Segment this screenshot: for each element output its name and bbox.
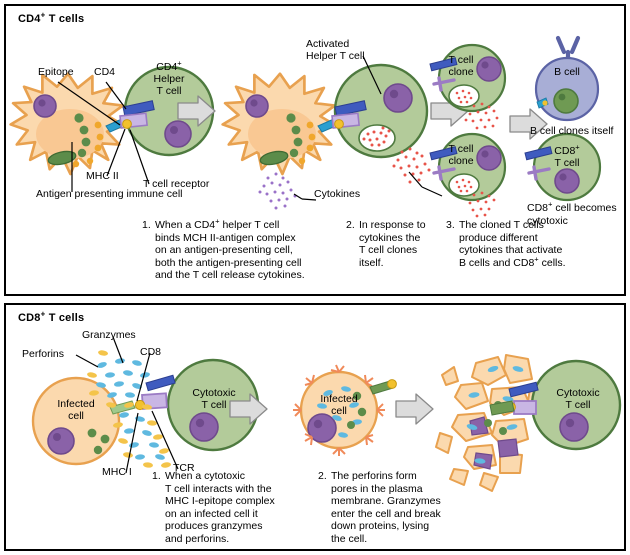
caption-cd4-1-line4: both the antigen-presenting cell bbox=[142, 257, 342, 270]
caption-cd8-2-line6: the cell. bbox=[318, 533, 508, 546]
b-cell-label: B cell bbox=[537, 66, 597, 78]
label-b-cell-clones: B cell clones itself bbox=[530, 125, 613, 137]
antigen-presenting-cell-2 bbox=[223, 74, 336, 174]
b-cell-epitope bbox=[542, 100, 547, 105]
caption-cd8-1-line2: T cell interacts with the bbox=[152, 483, 322, 496]
caption-cd8-2: 2. The perforins form pores in the plasm… bbox=[318, 470, 508, 546]
label-cd4: CD4 bbox=[94, 66, 115, 78]
infected-cell-2-label-line1: Infected bbox=[304, 393, 374, 405]
cytotoxic-t-cell-2-label-line2: T cell bbox=[538, 399, 618, 411]
caption-cd4-3-number: 3. bbox=[446, 219, 455, 232]
caption-cd8-1-line4: on an infected cell it bbox=[152, 508, 322, 521]
helper-t-cell-label-line2: Helper bbox=[124, 73, 214, 85]
infected-cell-2-nucleolus bbox=[314, 420, 322, 428]
epitope-antigen bbox=[123, 120, 132, 129]
b-cell-nucleolus bbox=[559, 94, 566, 101]
caption-cd8-2-line2: pores in the plasma bbox=[318, 483, 508, 496]
cd8-t-cell-label-line2: T cell bbox=[537, 157, 597, 169]
caption-cd8-2-line4: enter the cell and break bbox=[318, 508, 508, 521]
label-granzymes: Granzymes bbox=[82, 329, 136, 341]
cytotoxic-t-cell-1-nucleolus bbox=[196, 419, 204, 427]
helper-t-cell-nucleolus bbox=[170, 126, 178, 134]
caption-cd4-1-line3: on an antigen-presenting cell, bbox=[142, 244, 342, 257]
apc2-nucleus bbox=[246, 95, 268, 117]
label-epitope: Epitope bbox=[38, 66, 74, 78]
b-cell bbox=[536, 38, 598, 120]
caption-cd8-1-line5: produces granzymes bbox=[152, 520, 322, 533]
caption-cd8-1-number: 1. bbox=[152, 470, 161, 483]
caption-cd8-2-line3: membrane. Granzymes bbox=[318, 495, 508, 508]
panel-cd8-illustration: Granzymes Perforins CD8 MHC I TCR Infect… bbox=[6, 305, 624, 549]
caption-cd8-1-line3: MHC I-epitope complex bbox=[152, 495, 322, 508]
label-antigen-presenting-cell: Antigen presenting immune cell bbox=[36, 188, 183, 200]
caption-cd4-1: 1. When a CD4+ helper T cell binds MCH I… bbox=[142, 219, 342, 282]
helper-t-cell-label-line3: T cell bbox=[124, 85, 214, 97]
infected-cell-2-epitope bbox=[388, 380, 397, 389]
clone-bottom-label-line2: clone bbox=[431, 155, 491, 167]
caption-cd4-1-line5: and the T cell release cytokines. bbox=[142, 269, 342, 282]
caption-cd4-2-number: 2. bbox=[346, 219, 355, 232]
cytokine-cloud-apc bbox=[259, 173, 297, 210]
cytotoxic-t-cell-2-nucleus bbox=[560, 413, 588, 441]
caption-cd8-2-line5: down proteins, lysing bbox=[318, 520, 508, 533]
activated-helper-nucleus bbox=[384, 84, 412, 112]
label-mhc-ii: MHC II bbox=[86, 170, 119, 182]
cytotoxic-t-cell-2-label-line1: Cytotoxic bbox=[538, 387, 618, 399]
infected-cell-2-label-line2: cell bbox=[304, 405, 374, 417]
caption-cd8-1-line1: When a cytotoxic bbox=[152, 470, 322, 483]
activated-helper-nucleolus bbox=[390, 90, 398, 98]
clone-top-label-line1: T cell bbox=[431, 54, 491, 66]
panel-cd4-t-cells: CD4+ T cells bbox=[4, 4, 626, 296]
caption-cd8-2-number: 2. bbox=[318, 470, 327, 483]
caption-cd8-2-line1: The perforins form bbox=[318, 470, 508, 483]
arrow-cd8-step2-to-step3 bbox=[396, 394, 433, 424]
cd8-t-cell-label-line1: CD8+ bbox=[537, 145, 597, 157]
helper-t-cell-nucleus bbox=[165, 121, 191, 147]
clone-top-label-line2: clone bbox=[431, 66, 491, 78]
caption-cd4-1-line1: When a CD4+ helper T cell bbox=[142, 219, 342, 232]
panel-cd4-illustration: Epitope CD4 T cell receptor MHC II Antig… bbox=[6, 6, 624, 294]
infected-cell-1-nucleus bbox=[48, 428, 74, 454]
caption-cd8-1-line6: and perforins. bbox=[152, 533, 322, 546]
helper-t-cell-label-line1: CD4+ bbox=[124, 61, 214, 73]
label-activated-helper-line1: Activated bbox=[306, 38, 349, 50]
infected-cell-1-nucleolus bbox=[53, 433, 61, 441]
label-mhc-i: MHC I bbox=[102, 466, 132, 478]
caption-cd4-3-line2: produce different bbox=[446, 232, 626, 245]
b-cell-nucleus bbox=[554, 89, 578, 113]
apc-nucleus bbox=[34, 95, 56, 117]
cytotoxic-t-cell-1-label-line2: T cell bbox=[174, 399, 254, 411]
caption-cd8-1: 1. When a cytotoxic T cell interacts wit… bbox=[152, 470, 322, 546]
label-cytokines: Cytokines bbox=[314, 188, 360, 200]
apc2-nucleolus bbox=[250, 99, 257, 106]
caption-cd4-3-line4: B cells and CD8+ cells. bbox=[446, 257, 626, 270]
label-activated-helper-line2: Helper T cell bbox=[306, 50, 365, 62]
label-perforins: Perforins bbox=[22, 348, 64, 360]
caption-cd4-3-line1: The cloned T cells bbox=[446, 219, 626, 232]
cd8-t-cell-nucleus bbox=[555, 169, 579, 193]
clone-top-vesicle bbox=[449, 85, 479, 107]
label-cd8: CD8 bbox=[140, 346, 161, 358]
apc-nucleolus bbox=[38, 99, 45, 106]
cd8-t-cell-nucleolus bbox=[559, 173, 566, 180]
caption-cd4-3: 3. The cloned T cells produce different … bbox=[446, 219, 626, 269]
infected-cell-1-label-line2: cell bbox=[38, 410, 114, 422]
cytotoxic-t-cell-1-label-line1: Cytotoxic bbox=[174, 387, 254, 399]
panel-cd8-t-cells: CD8+ T cells bbox=[4, 303, 626, 551]
clone-bottom-label-line1: T cell bbox=[431, 143, 491, 155]
infected-cell-1-label-line1: Infected bbox=[38, 398, 114, 410]
cytotoxic-t-cell-1-nucleus bbox=[190, 413, 218, 441]
caption-cd4-1-line2: binds MCH II-antigen complex bbox=[142, 232, 342, 245]
label-cd8-becomes-line1: CD8+ cell becomes bbox=[527, 202, 617, 214]
caption-cd4-1-number: 1. bbox=[142, 219, 151, 232]
cytotoxic-t-cell-2-nucleolus bbox=[566, 419, 574, 427]
clone-bottom-vesicle bbox=[449, 174, 479, 196]
